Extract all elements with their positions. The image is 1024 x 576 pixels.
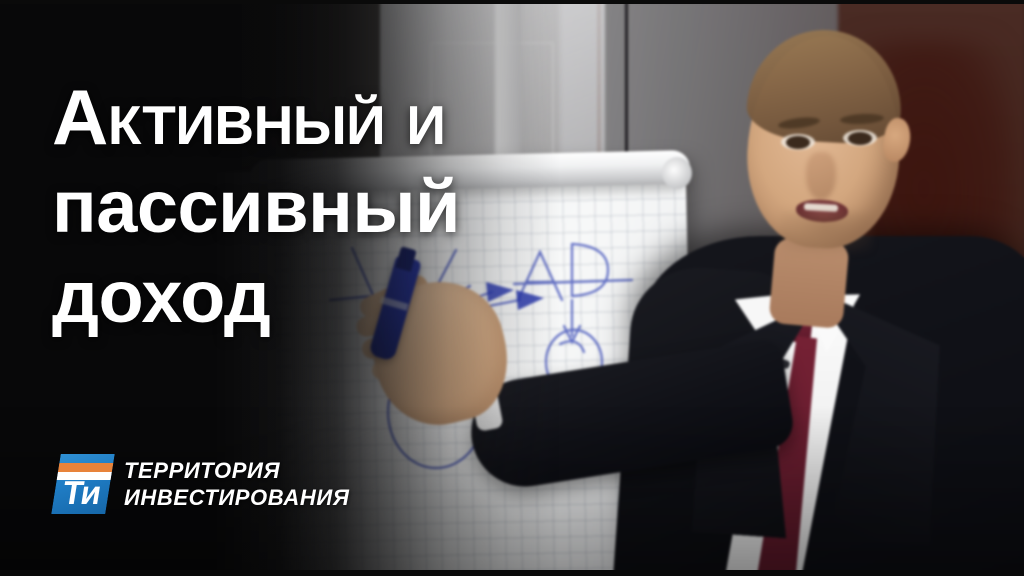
logo-monogram: Ти (51, 472, 112, 514)
thumbnail-title: Активный и пассивный доход (52, 72, 612, 342)
title-line-3: доход (52, 252, 612, 342)
channel-name: ТЕРРИТОРИЯ ИНВЕСТИРОВАНИЯ (124, 457, 349, 511)
nose (806, 152, 836, 200)
hair (745, 26, 905, 146)
title-line-2: пассивный (52, 162, 612, 252)
title-line-1: Активный и (52, 72, 612, 162)
chin-shadow (780, 212, 872, 252)
eye-left (786, 136, 810, 149)
letterbox-bar-bottom (0, 570, 1024, 576)
channel-name-line-2: ИНВЕСТИРОВАНИЯ (124, 484, 349, 511)
video-thumbnail: Активный и пассивный доход Ти ТЕРРИТОРИЯ… (0, 0, 1024, 576)
letterbox-bar-top (0, 0, 1024, 4)
logo-orange-stripe (58, 463, 113, 472)
channel-logo: Ти ТЕРРИТОРИЯ ИНВЕСТИРОВАНИЯ (56, 454, 349, 514)
logo-mark-icon: Ти (51, 454, 115, 514)
channel-name-line-1: ТЕРРИТОРИЯ (124, 457, 349, 484)
eye-right (848, 132, 872, 145)
